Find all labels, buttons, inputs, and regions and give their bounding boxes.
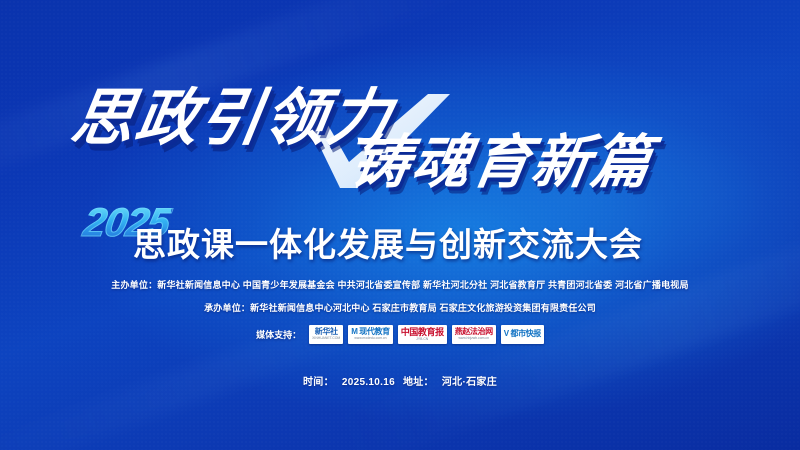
metro-express-logo: V 都市快报 [501,325,544,344]
logo-mark: 中国教育报 [401,328,444,337]
poster-subtitle: 思政课一体化发展与创新交流大会 [133,218,643,266]
china-education-daily-logo: 中国教育报 JYB.CN [398,325,447,344]
media-support-row: 媒体支持： 新华社 XINHUANET.COM M 现代教育 www.moded… [0,325,800,344]
logo-mark: 燕赵法治网 [455,328,493,336]
event-time-place: 时间：2025.10.16地址：河北·石家庄 [0,373,800,388]
event-place-value: 河北·石家庄 [442,377,497,388]
modern-education-logo: M 现代教育 www.modedu.com.cn [348,325,393,344]
organizer-units-line: 承办单位：新华社新闻信息中心河北中心 石家庄市教育局 石家庄文化旅游投资集团有限… [0,301,800,314]
poster-title-line-2: 铸魂育新篇 [347,134,656,192]
logo-sub: www.hbjzwb.com.cn [458,337,489,340]
light-streak [0,269,470,450]
poster-title-line-1: 思政引领力 [67,88,397,150]
logo-sub: JYB.CN [416,338,428,341]
host-units-line: 主办单位：新华社新闻信息中心 中国青少年发展基金会 中共河北省委宣传部 新华社河… [0,278,800,291]
logo-sub: www.modedu.com.cn [354,337,386,340]
xinhua-news-logo: 新华社 XINHUANET.COM [309,325,343,344]
event-place: 地址： [403,377,434,388]
logo-mark: V 都市快报 [504,330,541,338]
logo-mark: M 现代教育 [351,328,390,336]
hebei-legal-net-logo: 燕赵法治网 www.hbjzwb.com.cn [452,325,496,344]
logo-sub: XINHUANET.COM [312,337,340,340]
logo-mark: 新华社 [315,328,338,336]
event-time-value: 2025.10.16 [342,377,395,388]
event-poster: 思政引领力 铸魂育新篇 2025 思政课一体化发展与创新交流大会 主办单位：新华… [0,0,800,450]
media-support-label: 媒体支持： [256,328,301,341]
event-time: 时间： [303,377,334,388]
